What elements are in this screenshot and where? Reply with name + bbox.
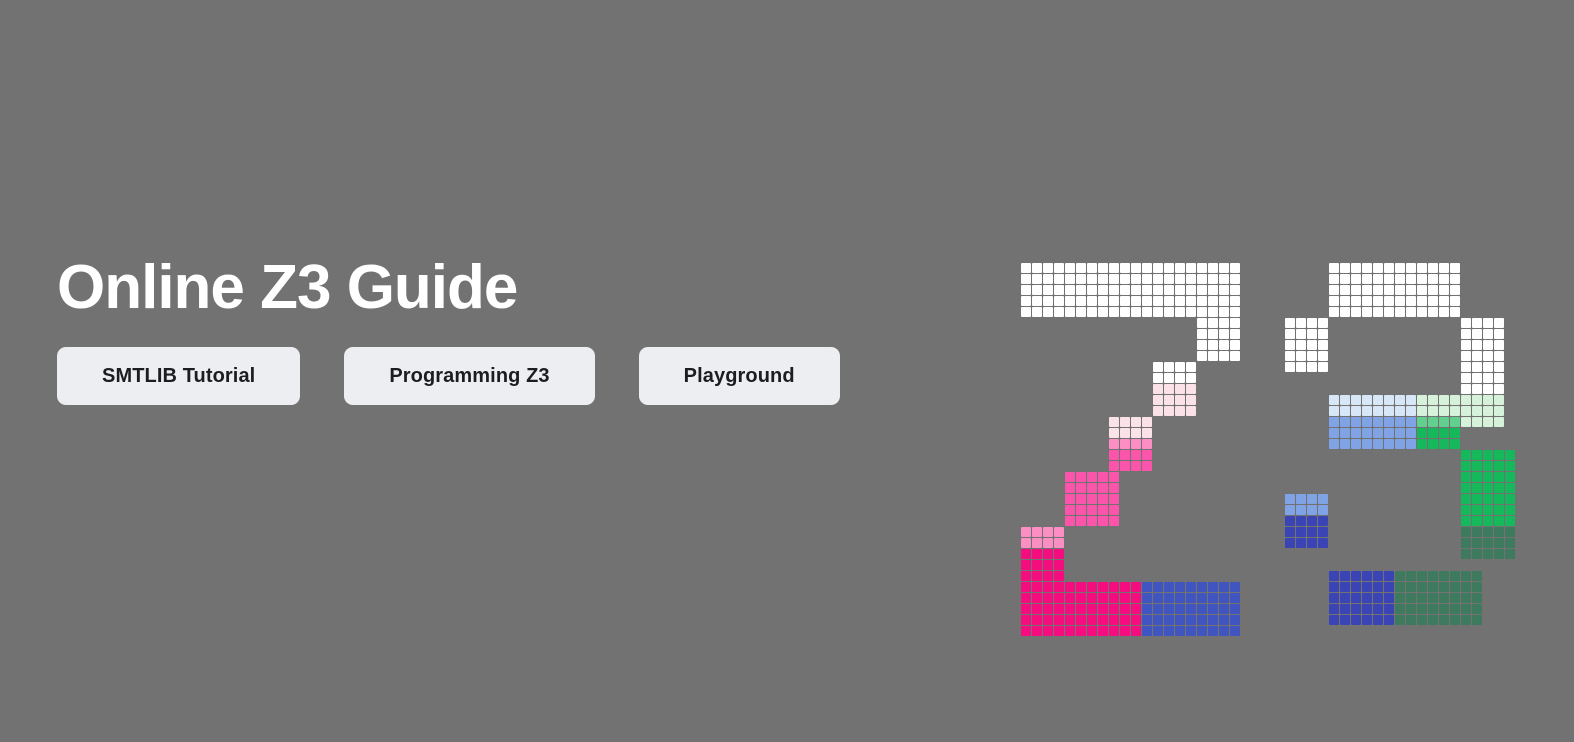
logo-pixel xyxy=(1098,604,1108,614)
logo-pixel xyxy=(1087,505,1097,515)
logo-pixel xyxy=(1076,483,1086,493)
logo-pixel xyxy=(1494,318,1504,328)
logo-pixel xyxy=(1362,593,1372,603)
logo-pixel xyxy=(1483,505,1493,515)
logo-pixel xyxy=(1109,483,1119,493)
logo-pixel xyxy=(1065,296,1075,306)
logo-pixel xyxy=(1406,604,1416,614)
logo-pixel xyxy=(1472,549,1482,559)
logo-pixel xyxy=(1109,472,1119,482)
logo-pixel xyxy=(1351,428,1361,438)
logo-pixel xyxy=(1450,285,1460,295)
logo-pixel xyxy=(1153,384,1163,394)
logo-pixel xyxy=(1131,439,1141,449)
logo-pixel xyxy=(1043,549,1053,559)
logo-pixel xyxy=(1153,296,1163,306)
logo-pixel xyxy=(1450,406,1460,416)
logo-pixel xyxy=(1472,362,1482,372)
logo-pixel xyxy=(1296,329,1306,339)
logo-pixel xyxy=(1296,362,1306,372)
logo-pixel xyxy=(1373,428,1383,438)
logo-pixel xyxy=(1197,274,1207,284)
logo-pixel xyxy=(1472,406,1482,416)
logo-pixel xyxy=(1054,527,1064,537)
logo-pixel xyxy=(1494,417,1504,427)
logo-pixel xyxy=(1164,395,1174,405)
logo-pixel xyxy=(1164,373,1174,383)
logo-pixel xyxy=(1153,373,1163,383)
logo-pixel xyxy=(1230,318,1240,328)
logo-pixel xyxy=(1098,307,1108,317)
logo-pixel xyxy=(1021,538,1031,548)
logo-pixel xyxy=(1186,307,1196,317)
logo-pixel xyxy=(1065,307,1075,317)
logo-pixel xyxy=(1208,351,1218,361)
logo-pixel xyxy=(1219,318,1229,328)
logo-pixel xyxy=(1087,472,1097,482)
logo-pixel xyxy=(1175,263,1185,273)
logo-pixel xyxy=(1461,329,1471,339)
logo-pixel xyxy=(1164,384,1174,394)
logo-pixel xyxy=(1197,340,1207,350)
logo-pixel xyxy=(1472,373,1482,383)
logo-pixel xyxy=(1065,285,1075,295)
logo-pixel xyxy=(1318,505,1328,515)
logo-pixel xyxy=(1296,340,1306,350)
logo-pixel xyxy=(1032,626,1042,636)
logo-pixel xyxy=(1164,604,1174,614)
logo-pixel xyxy=(1329,582,1339,592)
logo-pixel xyxy=(1142,428,1152,438)
logo-pixel xyxy=(1186,615,1196,625)
logo-pixel xyxy=(1406,582,1416,592)
logo-pixel xyxy=(1021,626,1031,636)
logo-pixel xyxy=(1318,329,1328,339)
logo-pixel xyxy=(1439,263,1449,273)
logo-pixel xyxy=(1142,417,1152,427)
logo-pixel xyxy=(1362,571,1372,581)
logo-pixel xyxy=(1021,582,1031,592)
logo-pixel xyxy=(1450,263,1460,273)
logo-pixel xyxy=(1175,615,1185,625)
logo-pixel xyxy=(1219,296,1229,306)
logo-pixel xyxy=(1175,274,1185,284)
logo-pixel xyxy=(1285,318,1295,328)
logo-pixel xyxy=(1472,538,1482,548)
logo-pixel xyxy=(1494,461,1504,471)
logo-pixel xyxy=(1472,384,1482,394)
logo-pixel xyxy=(1472,516,1482,526)
logo-pixel xyxy=(1362,263,1372,273)
logo-pixel xyxy=(1208,296,1218,306)
logo-pixel xyxy=(1450,615,1460,625)
logo-pixel xyxy=(1142,439,1152,449)
logo-pixel xyxy=(1186,384,1196,394)
logo-pixel xyxy=(1406,417,1416,427)
logo-pixel xyxy=(1219,340,1229,350)
logo-pixel xyxy=(1021,274,1031,284)
logo-pixel xyxy=(1054,296,1064,306)
logo-pixel xyxy=(1384,296,1394,306)
logo-pixel xyxy=(1098,296,1108,306)
logo-pixel xyxy=(1362,274,1372,284)
logo-pixel xyxy=(1296,318,1306,328)
logo-pixel xyxy=(1472,593,1482,603)
logo-pixel xyxy=(1021,604,1031,614)
logo-pixel xyxy=(1186,626,1196,636)
logo-pixel xyxy=(1120,593,1130,603)
logo-pixel xyxy=(1021,560,1031,570)
logo-pixel xyxy=(1494,450,1504,460)
logo-pixel xyxy=(1307,527,1317,537)
logo-pixel xyxy=(1076,285,1086,295)
logo-pixel xyxy=(1065,483,1075,493)
logo-pixel xyxy=(1219,274,1229,284)
logo-pixel xyxy=(1098,472,1108,482)
logo-pixel xyxy=(1505,461,1515,471)
logo-pixel xyxy=(1153,263,1163,273)
logo-pixel xyxy=(1406,296,1416,306)
logo-pixel xyxy=(1483,538,1493,548)
logo-pixel xyxy=(1384,263,1394,273)
logo-pixel xyxy=(1131,285,1141,295)
logo-pixel xyxy=(1098,494,1108,504)
logo-pixel xyxy=(1384,417,1394,427)
logo-pixel xyxy=(1131,582,1141,592)
logo-pixel xyxy=(1307,329,1317,339)
logo-pixel xyxy=(1340,406,1350,416)
logo-pixel xyxy=(1175,384,1185,394)
logo-pixel xyxy=(1032,263,1042,273)
logo-pixel xyxy=(1109,604,1119,614)
logo-pixel xyxy=(1351,406,1361,416)
logo-pixel xyxy=(1428,428,1438,438)
logo-pixel xyxy=(1439,296,1449,306)
logo-pixel xyxy=(1175,296,1185,306)
logo-pixel xyxy=(1076,472,1086,482)
logo-pixel xyxy=(1373,296,1383,306)
logo-pixel xyxy=(1461,340,1471,350)
logo-pixel xyxy=(1131,263,1141,273)
logo-pixel xyxy=(1043,538,1053,548)
logo-pixel xyxy=(1098,483,1108,493)
logo-pixel xyxy=(1483,516,1493,526)
logo-pixel xyxy=(1395,307,1405,317)
logo-pixel xyxy=(1351,439,1361,449)
logo-pixel xyxy=(1230,296,1240,306)
logo-pixel xyxy=(1384,593,1394,603)
logo-pixel xyxy=(1032,527,1042,537)
logo-pixel xyxy=(1021,527,1031,537)
logo-pixel xyxy=(1384,582,1394,592)
logo-pixel xyxy=(1032,604,1042,614)
logo-pixel xyxy=(1472,450,1482,460)
logo-pixel xyxy=(1318,538,1328,548)
logo-pixel xyxy=(1197,263,1207,273)
logo-pixel xyxy=(1032,274,1042,284)
logo-pixel xyxy=(1296,516,1306,526)
logo-pixel xyxy=(1494,329,1504,339)
logo-pixel xyxy=(1472,395,1482,405)
logo-pixel xyxy=(1307,516,1317,526)
logo-pixel xyxy=(1153,274,1163,284)
logo-pixel xyxy=(1406,285,1416,295)
logo-pixel xyxy=(1494,483,1504,493)
logo-pixel xyxy=(1208,593,1218,603)
programming-z3-button[interactable]: Programming Z3 xyxy=(344,347,594,405)
logo-pixel xyxy=(1175,307,1185,317)
logo-pixel xyxy=(1318,351,1328,361)
logo-pixel xyxy=(1505,494,1515,504)
logo-pixel xyxy=(1307,538,1317,548)
logo-pixel xyxy=(1472,582,1482,592)
logo-pixel xyxy=(1428,274,1438,284)
logo-pixel xyxy=(1087,626,1097,636)
logo-pixel xyxy=(1384,604,1394,614)
logo-pixel xyxy=(1417,274,1427,284)
logo-pixel xyxy=(1494,516,1504,526)
logo-pixel xyxy=(1329,307,1339,317)
logo-pixel xyxy=(1373,615,1383,625)
logo-pixel xyxy=(1087,296,1097,306)
logo-pixel xyxy=(1439,604,1449,614)
logo-pixel xyxy=(1109,296,1119,306)
logo-pixel xyxy=(1461,516,1471,526)
logo-pixel xyxy=(1296,494,1306,504)
logo-pixel xyxy=(1483,527,1493,537)
logo-pixel xyxy=(1087,615,1097,625)
logo-pixel xyxy=(1340,604,1350,614)
logo-pixel xyxy=(1164,285,1174,295)
logo-pixel xyxy=(1494,549,1504,559)
logo-pixel xyxy=(1461,483,1471,493)
logo-pixel xyxy=(1505,472,1515,482)
logo-pixel xyxy=(1329,406,1339,416)
logo-pixel xyxy=(1285,362,1295,372)
logo-pixel xyxy=(1208,340,1218,350)
logo-pixel xyxy=(1043,296,1053,306)
logo-pixel xyxy=(1483,362,1493,372)
logo-pixel xyxy=(1208,285,1218,295)
logo-pixel xyxy=(1439,439,1449,449)
logo-pixel xyxy=(1373,307,1383,317)
logo-pixel xyxy=(1021,307,1031,317)
logo-pixel xyxy=(1406,274,1416,284)
logo-pixel xyxy=(1219,263,1229,273)
logo-pixel xyxy=(1087,285,1097,295)
logo-pixel xyxy=(1098,582,1108,592)
logo-pixel xyxy=(1219,307,1229,317)
logo-pixel xyxy=(1483,340,1493,350)
logo-pixel xyxy=(1109,626,1119,636)
logo-pixel xyxy=(1065,593,1075,603)
logo-pixel xyxy=(1076,307,1086,317)
logo-pixel xyxy=(1461,571,1471,581)
logo-pixel xyxy=(1219,626,1229,636)
logo-pixel xyxy=(1439,285,1449,295)
logo-pixel xyxy=(1131,461,1141,471)
logo-pixel xyxy=(1494,340,1504,350)
logo-pixel xyxy=(1043,274,1053,284)
logo-pixel xyxy=(1087,274,1097,284)
logo-pixel xyxy=(1461,549,1471,559)
logo-pixel xyxy=(1461,417,1471,427)
logo-pixel xyxy=(1120,296,1130,306)
logo-pixel xyxy=(1428,307,1438,317)
logo-pixel xyxy=(1175,604,1185,614)
logo-pixel xyxy=(1186,604,1196,614)
logo-pixel xyxy=(1395,571,1405,581)
logo-pixel xyxy=(1395,285,1405,295)
logo-pixel xyxy=(1054,571,1064,581)
logo-pixel xyxy=(1461,538,1471,548)
logo-pixel xyxy=(1417,439,1427,449)
logo-pixel xyxy=(1230,351,1240,361)
logo-pixel xyxy=(1175,626,1185,636)
logo-pixel xyxy=(1153,285,1163,295)
playground-button[interactable]: Playground xyxy=(639,347,840,405)
logo-pixel xyxy=(1461,615,1471,625)
logo-pixel xyxy=(1351,395,1361,405)
logo-pixel xyxy=(1318,516,1328,526)
logo-pixel xyxy=(1087,307,1097,317)
logo-pixel xyxy=(1175,582,1185,592)
logo-pixel xyxy=(1164,296,1174,306)
logo-pixel xyxy=(1373,274,1383,284)
logo-pixel xyxy=(1307,351,1317,361)
logo-pixel xyxy=(1406,307,1416,317)
logo-pixel xyxy=(1417,582,1427,592)
logo-pixel xyxy=(1340,593,1350,603)
logo-pixel xyxy=(1406,571,1416,581)
logo-pixel xyxy=(1329,571,1339,581)
logo-pixel xyxy=(1120,263,1130,273)
logo-pixel xyxy=(1197,593,1207,603)
logo-pixel xyxy=(1153,395,1163,405)
logo-pixel xyxy=(1428,593,1438,603)
logo-pixel xyxy=(1472,494,1482,504)
logo-pixel xyxy=(1109,593,1119,603)
logo-pixel xyxy=(1032,560,1042,570)
logo-pixel xyxy=(1329,417,1339,427)
logo-pixel xyxy=(1395,296,1405,306)
logo-pixel xyxy=(1505,483,1515,493)
logo-pixel xyxy=(1065,263,1075,273)
logo-pixel xyxy=(1208,307,1218,317)
logo-pixel xyxy=(1318,527,1328,537)
logo-pixel xyxy=(1461,406,1471,416)
logo-pixel xyxy=(1384,395,1394,405)
logo-pixel xyxy=(1340,296,1350,306)
page-title: Online Z3 Guide xyxy=(57,255,977,320)
logo-pixel xyxy=(1373,406,1383,416)
logo-pixel xyxy=(1219,285,1229,295)
logo-pixel xyxy=(1219,329,1229,339)
logo-pixel xyxy=(1461,362,1471,372)
logo-pixel xyxy=(1109,285,1119,295)
logo-pixel xyxy=(1351,604,1361,614)
logo-pixel xyxy=(1384,406,1394,416)
logo-pixel xyxy=(1494,406,1504,416)
logo-pixel xyxy=(1494,351,1504,361)
logo-pixel xyxy=(1395,582,1405,592)
logo-pixel xyxy=(1483,450,1493,460)
logo-pixel xyxy=(1153,615,1163,625)
logo-pixel xyxy=(1131,417,1141,427)
logo-pixel xyxy=(1109,582,1119,592)
logo-pixel xyxy=(1505,527,1515,537)
smtlib-tutorial-button[interactable]: SMTLIB Tutorial xyxy=(57,347,300,405)
logo-pixel xyxy=(1043,527,1053,537)
logo-pixel xyxy=(1373,417,1383,427)
logo-pixel xyxy=(1208,318,1218,328)
logo-pixel xyxy=(1230,340,1240,350)
logo-pixel xyxy=(1131,307,1141,317)
logo-pixel xyxy=(1450,307,1460,317)
logo-pixel xyxy=(1043,582,1053,592)
logo-pixel xyxy=(1362,417,1372,427)
logo-pixel xyxy=(1340,285,1350,295)
logo-pixel xyxy=(1175,362,1185,372)
logo-pixel xyxy=(1417,615,1427,625)
logo-pixel xyxy=(1417,571,1427,581)
logo-pixel xyxy=(1054,263,1064,273)
logo-pixel xyxy=(1307,318,1317,328)
logo-pixel xyxy=(1362,582,1372,592)
logo-pixel xyxy=(1054,582,1064,592)
logo-pixel xyxy=(1417,296,1427,306)
logo-pixel xyxy=(1494,527,1504,537)
logo-pixel xyxy=(1120,461,1130,471)
logo-pixel xyxy=(1417,593,1427,603)
logo-pixel xyxy=(1340,582,1350,592)
logo-pixel xyxy=(1472,351,1482,361)
logo-pixel xyxy=(1362,307,1372,317)
logo-pixel xyxy=(1384,571,1394,581)
logo-pixel xyxy=(1483,351,1493,361)
logo-pixel xyxy=(1417,285,1427,295)
logo-pixel xyxy=(1373,263,1383,273)
logo-pixel xyxy=(1318,362,1328,372)
logo-pixel xyxy=(1109,505,1119,515)
logo-pixel xyxy=(1142,285,1152,295)
logo-pixel xyxy=(1450,439,1460,449)
logo-pixel xyxy=(1406,395,1416,405)
logo-pixel xyxy=(1329,439,1339,449)
hero-button-row: SMTLIB Tutorial Programming Z3 Playgroun… xyxy=(57,347,977,405)
logo-pixel xyxy=(1131,274,1141,284)
logo-pixel xyxy=(1109,417,1119,427)
logo-pixel xyxy=(1428,263,1438,273)
hero-section: Online Z3 Guide SMTLIB Tutorial Programm… xyxy=(57,255,977,405)
logo-pixel xyxy=(1505,538,1515,548)
logo-pixel xyxy=(1384,439,1394,449)
logo-pixel xyxy=(1472,461,1482,471)
logo-pixel xyxy=(1087,582,1097,592)
logo-pixel xyxy=(1087,483,1097,493)
logo-pixel xyxy=(1362,296,1372,306)
logo-pixel xyxy=(1065,472,1075,482)
logo-pixel xyxy=(1340,274,1350,284)
logo-pixel xyxy=(1032,593,1042,603)
logo-pixel xyxy=(1439,615,1449,625)
logo-pixel xyxy=(1494,494,1504,504)
logo-pixel xyxy=(1285,494,1295,504)
logo-pixel xyxy=(1450,395,1460,405)
logo-pixel xyxy=(1021,285,1031,295)
logo-pixel xyxy=(1219,582,1229,592)
logo-pixel xyxy=(1439,274,1449,284)
